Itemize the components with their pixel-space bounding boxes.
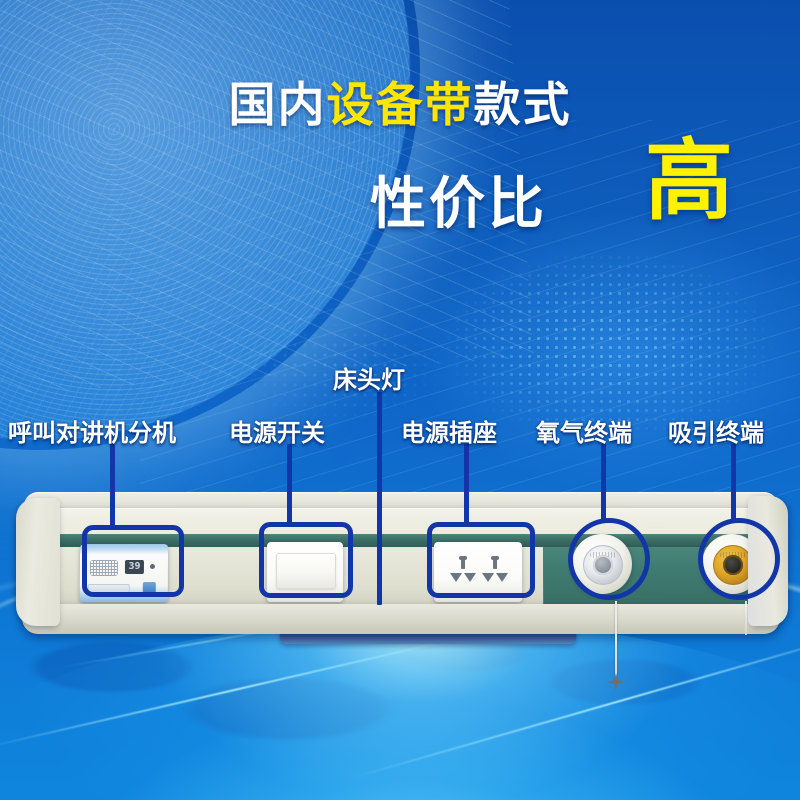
leader-line-intercom	[110, 444, 115, 529]
headline-line-1: 国内设备带款式	[0, 82, 800, 129]
headline-seg-2-highlight: 设备带	[327, 78, 474, 133]
callout-box-power-switch	[259, 522, 353, 598]
callout-label-power-socket: 电源插座	[401, 413, 497, 448]
callout-label-oxygen: 氧气终端	[536, 413, 632, 448]
leader-line-power-switch	[287, 444, 292, 526]
headline-block: 国内设备带款式 性价比 高	[0, 82, 800, 239]
suction-drain-tube	[745, 601, 747, 635]
leader-line-suction	[731, 444, 736, 522]
callout-box-intercom	[82, 525, 184, 597]
leader-line-power-socket	[464, 444, 469, 526]
callout-box-power-socket	[427, 522, 535, 598]
promo-image: 国内设备带款式 性价比 高 呼叫对讲机分机 电源开关 床头灯 电源插座 氧气终端…	[0, 0, 800, 800]
leader-line-oxygen	[601, 444, 606, 522]
headline-seg-3: 款式	[474, 78, 572, 133]
callout-label-suction: 吸引终端	[668, 413, 764, 448]
callout-label-power-switch: 电源开关	[229, 413, 325, 448]
headline-value-phrase: 性价比	[370, 159, 547, 240]
headline-line-2: 性价比 高	[0, 155, 800, 239]
callout-label-intercom: 呼叫对讲机分机	[8, 413, 176, 448]
headline-seg-1: 国内	[229, 78, 327, 133]
leader-line-bed-lamp	[377, 392, 382, 605]
callout-circle-suction	[698, 518, 780, 600]
callout-label-bed-lamp: 床头灯	[333, 360, 405, 395]
headline-highlight-char: 高	[645, 137, 733, 225]
callout-circle-oxygen	[568, 518, 650, 600]
bed-lamp-pull-cord[interactable]	[615, 601, 617, 677]
panel-bottom-edge	[22, 604, 780, 634]
panel-end-cap-left	[16, 498, 60, 626]
